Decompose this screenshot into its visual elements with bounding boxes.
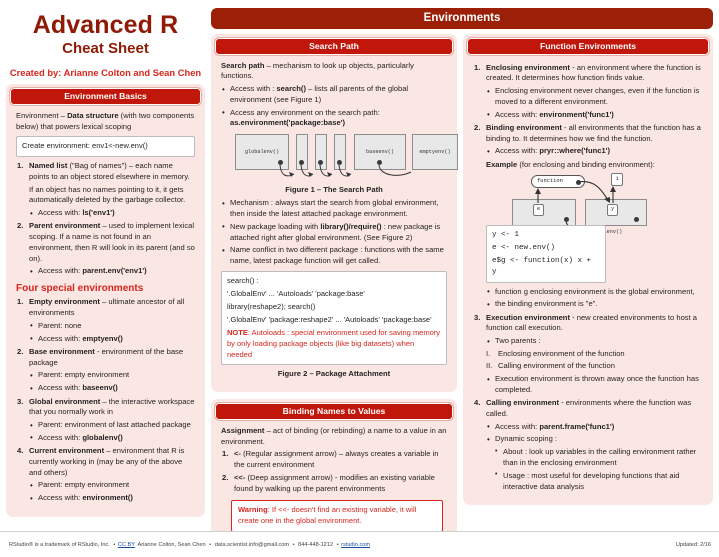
item-bullets-after: Execution environment is thrown away onc…	[486, 374, 703, 396]
item-title: Named list	[29, 161, 67, 170]
bullet-b: search()	[276, 84, 306, 93]
bullet-code: environment()	[82, 493, 133, 502]
item-title: Empty environment	[29, 297, 100, 306]
bullet-label: Access with:	[38, 334, 82, 343]
bullet-label: Access with:	[38, 433, 82, 442]
section-header-search-path: Search Path	[214, 37, 454, 56]
footer-trademark: RStudio® is a trademark of RStudio, Inc.	[9, 542, 110, 548]
section-binding: Binding Names to Values Assignment – act…	[211, 399, 457, 543]
footer-sep4: •	[337, 542, 339, 548]
bullet-access: Access with: pryr::where('func1')	[486, 146, 703, 157]
left-column: Advanced R Cheat Sheet Created by: Arian…	[6, 6, 205, 524]
bullet-access: Access with: globalenv()	[29, 433, 195, 444]
bullet-item: Access with: parent.env('env1')	[29, 266, 195, 277]
bullet-access: Access with: emptyenv()	[29, 334, 195, 345]
env-basics-intro: Environment – Data structure (with two c…	[16, 111, 195, 133]
footer-cc-by-link[interactable]: CC BY	[118, 542, 135, 548]
list-item: Named list ("Bag of names") – each name …	[16, 161, 195, 219]
item-bullets: Two parents :	[486, 336, 703, 347]
bullet-name-conflict: Name conflict in two different package :…	[221, 245, 447, 267]
bullet-access: Access with: parent.frame('func1')	[486, 422, 703, 433]
bullet-label: Access with:	[38, 383, 82, 392]
page-title: Advanced R	[6, 12, 205, 38]
example-line: Example (for enclosing and binding envir…	[486, 160, 703, 171]
list-item: Parent environment – used to implement l…	[16, 221, 195, 277]
bullet-code: pryr::where('func1')	[539, 146, 610, 155]
code-note: NOTE: Autoloads : special environment us…	[227, 328, 441, 360]
create-environment-code: Create environment: env1<-new.env()	[22, 141, 189, 152]
section-body-function-environments: Enclosing environment - an environment w…	[466, 56, 710, 502]
bullet-parent: Parent: empty environment	[29, 370, 195, 381]
example-rest: (for enclosing and binding environment):	[517, 160, 655, 169]
bullet-code: globalenv()	[82, 433, 123, 442]
four-special-environments-header: Four special environments	[16, 283, 195, 294]
bullet-a: Access any environment on the search pat…	[230, 108, 380, 117]
list-item: Binding environment - all environments t…	[473, 123, 703, 310]
bullet-code: ls('env1')	[82, 208, 114, 217]
code-line-2: e <- new.env()	[492, 243, 600, 254]
bullet-text: function g enclosing environment is the …	[486, 287, 703, 298]
item-bullets: Access with: ls('env1')	[29, 208, 195, 219]
item-title: Enclosing environment	[486, 63, 570, 72]
footer-sep2: •	[209, 542, 211, 548]
item-title: Current environment	[29, 446, 104, 455]
bullet-text: Execution environment is thrown away onc…	[486, 374, 703, 396]
item-bullets: Access with: pryr::where('func1')	[486, 146, 703, 157]
item-bullets: Access with: parent.frame('func1') Dynam…	[486, 422, 703, 446]
item-bullets: Parent: none Access with: emptyenv()	[29, 321, 195, 345]
item-title: Binding environment	[486, 123, 562, 132]
footer-phone: 844-448-1212	[298, 542, 333, 548]
section-header-environment-basics: Environment Basics	[9, 87, 202, 106]
figure1-caption: Figure 1 – The Search Path	[221, 185, 447, 194]
item-rest: (Deep assignment arrow) - modifies an ex…	[234, 473, 435, 493]
bullet-a: New package loading with	[230, 222, 320, 231]
columns-container: Advanced R Cheat Sheet Created by: Arian…	[6, 6, 713, 524]
cheatsheet-page: Advanced R Cheat Sheet Created by: Arian…	[0, 0, 719, 557]
bullet-code: parent.env('env1')	[82, 266, 146, 275]
footer-email: data.scientist.info@gmail.com	[215, 542, 289, 548]
item-bullets: Enclosing environment never changes, eve…	[486, 86, 703, 120]
item-bullets: Access with: parent.env('env1')	[29, 266, 195, 277]
bullet-code: parent.frame('func1')	[539, 422, 614, 431]
bullet-text: About : look up variables in the calling…	[494, 447, 703, 469]
bullet-text: Dynamic scoping :	[486, 434, 703, 445]
bullet-parent: Parent: empty environment	[29, 480, 195, 491]
footer-sep1: •	[113, 542, 115, 548]
bullet-label: Access with:	[38, 208, 82, 217]
bullet-item: Access with : search() – lists all paren…	[221, 84, 447, 106]
list-item: Empty environment – ultimate ancestor of…	[16, 297, 195, 344]
bullet-text: the binding environment is "e".	[486, 299, 703, 310]
section-body-binding: Assignment – act of binding (or rebindin…	[214, 421, 454, 541]
create-environment-box: Create environment: env1<-new.env()	[16, 136, 195, 157]
bullet-parent: Parent: environment of last attached pac…	[29, 420, 195, 431]
footer-rstudio-link[interactable]: rstudio.com	[341, 542, 370, 548]
footer-sep3: •	[293, 542, 295, 548]
right-area: Environments Search Path Search path – m…	[211, 6, 713, 524]
bullet-text: Usage : most useful for developing funct…	[494, 471, 703, 493]
bullet-label: Access with:	[38, 266, 82, 275]
created-by: Created by: Arianne Colton and Sean Chen	[6, 67, 205, 78]
env-basics-list: Named list ("Bag of names") – each name …	[16, 161, 195, 277]
search-path-mechanism-bullets: Mechanism : always start the search from…	[221, 198, 447, 267]
bullet-item: Access any environment on the search pat…	[221, 108, 447, 130]
bullet-item: Access with: ls('env1')	[29, 208, 195, 219]
example-notes: function g enclosing environment is the …	[486, 287, 703, 311]
page-subtitle: Cheat Sheet	[6, 40, 205, 57]
list-item: Execution environment - new created envi…	[473, 313, 703, 396]
footer-updated: Updated: 2/16	[676, 542, 711, 548]
roman-item: Calling environment of the function	[486, 361, 703, 372]
bullet-parent: Parent: none	[29, 321, 195, 332]
bullet-code: baseenv()	[82, 383, 117, 392]
section-search-path: Search Path Search path – mechanism to l…	[211, 34, 457, 392]
binding-list: <- (Regular assignment arrow) – always c…	[221, 449, 447, 495]
binding-intro: Assignment – act of binding (or rebindin…	[221, 426, 447, 448]
list-item: <- (Regular assignment arrow) – always c…	[221, 449, 447, 471]
code-line-4: '.GlobalEnv' 'package:reshape2' ... 'Aut…	[227, 315, 441, 326]
search-path-bullets: Access with : search() – lists all paren…	[221, 84, 447, 129]
bullet-b: as.environment('package:base')	[230, 118, 345, 127]
figure1-search-path-diagram: globalenv() baseenv() empty	[221, 134, 447, 182]
env-basics-intro-b: Data structure	[67, 111, 118, 120]
list-item: <<- (Deep assignment arrow) - modifies a…	[221, 473, 447, 495]
item-code: <<-	[234, 473, 245, 482]
two-column-area: Search Path Search path – mechanism to l…	[211, 34, 713, 544]
item-title: Parent environment	[29, 221, 100, 230]
code-line-1: search() :	[227, 276, 441, 287]
code-line-3: e$g <- function(x) x + y	[492, 256, 600, 277]
search-code-box: search() : '.GlobalEnv' ... 'Autoloads' …	[221, 271, 447, 365]
list-item: Current environment – environment that R…	[16, 446, 195, 504]
footer-authors: Arianne Colton, Sean Chen	[137, 542, 205, 548]
search-path-intro-b: Search path	[221, 61, 264, 70]
dynamic-scoping-bullets: About : look up variables in the calling…	[486, 447, 703, 492]
code-line-3: library(reshape2); search()	[227, 302, 441, 313]
item-title: Execution environment	[486, 313, 570, 322]
binding-warning-box: Warning: If <<- doesn't find an existing…	[231, 500, 443, 532]
special-environments-list: Empty environment – ultimate ancestor of…	[16, 297, 195, 504]
section-function-environments: Function Environments Enclosing environm…	[463, 34, 713, 505]
two-parents-list: Enclosing environment of the function Ca…	[486, 349, 703, 372]
warning-label: Warning	[238, 505, 268, 514]
footer-left: RStudio® is a trademark of RStudio, Inc.…	[8, 542, 370, 548]
section-body-search-path: Search path – mechanism to look up objec…	[214, 56, 454, 390]
environments-banner: Environments	[211, 8, 713, 29]
list-item: Base environment - environment of the ba…	[16, 347, 195, 394]
right-column: Function Environments Enclosing environm…	[463, 34, 713, 544]
bullet-code: emptyenv()	[82, 334, 123, 343]
bullet-label: Access with:	[495, 110, 539, 119]
item-title: Base environment	[29, 347, 95, 356]
figure1-arrows	[221, 134, 467, 182]
item-para: If an object has no names pointing to it…	[29, 185, 195, 207]
section-header-function-environments: Function Environments	[466, 37, 710, 56]
example-label: Example	[486, 160, 517, 169]
env-basics-intro-a: Environment –	[16, 111, 67, 120]
bullet-text: Two parents :	[486, 336, 703, 347]
search-path-intro: Search path – mechanism to look up objec…	[221, 61, 447, 83]
bullet-label: Access with:	[495, 422, 539, 431]
example-code-box: y <- 1 e <- new.env() e$g <- function(x)…	[486, 225, 606, 283]
bullet-access: Access with: environment('func1')	[486, 110, 703, 121]
binding-intro-b: Assignment	[221, 426, 264, 435]
bullet-item: New package loading with library()/requi…	[221, 222, 447, 244]
figure2-caption: Figure 2 – Package Attachment	[221, 369, 447, 378]
section-environment-basics: Environment Basics Environment – Data st…	[6, 84, 205, 516]
item-title: Global environment	[29, 397, 100, 406]
title-block: Advanced R Cheat Sheet	[6, 6, 205, 57]
item-rest: (Regular assignment arrow) – always crea…	[234, 449, 439, 469]
code-line-1: y <- 1	[492, 230, 600, 241]
item-code: <-	[234, 449, 241, 458]
note-rest: : Autoloads : special environment used f…	[227, 328, 440, 358]
bullet-label: Access with:	[495, 146, 539, 155]
bullet-mechanism: Mechanism : always start the search from…	[221, 198, 447, 220]
bullet-text: Enclosing environment never changes, eve…	[486, 86, 703, 108]
item-title: Calling environment	[486, 398, 559, 407]
bullet-label: Access with:	[38, 493, 82, 502]
list-item: Enclosing environment - an environment w…	[473, 63, 703, 121]
bullet-access: Access with: baseenv()	[29, 383, 195, 394]
section-header-binding: Binding Names to Values	[214, 402, 454, 421]
section-body-environment-basics: Environment – Data structure (with two c…	[9, 106, 202, 514]
footer: RStudio® is a trademark of RStudio, Inc.…	[0, 531, 719, 557]
bullet-code: environment('func1')	[539, 110, 614, 119]
list-item: Calling environment - environments where…	[473, 398, 703, 492]
note-label: NOTE	[227, 328, 248, 337]
item-bullets: Parent: environment of last attached pac…	[29, 420, 195, 444]
bullet-a: Access with :	[230, 84, 276, 93]
code-line-2: '.GlobalEnv' ... 'Autoloads' 'package:ba…	[227, 289, 441, 300]
list-item: Global environment – the interactive wor…	[16, 397, 195, 444]
middle-column: Search Path Search path – mechanism to l…	[211, 34, 457, 544]
function-env-list: Enclosing environment - an environment w…	[473, 63, 703, 493]
bullet-b: library()/require()	[320, 222, 381, 231]
item-bullets: Parent: empty environment Access with: e…	[29, 480, 195, 504]
item-bullets: Parent: empty environment Access with: b…	[29, 370, 195, 394]
bullet-access: Access with: environment()	[29, 493, 195, 504]
roman-item: Enclosing environment of the function	[486, 349, 703, 360]
